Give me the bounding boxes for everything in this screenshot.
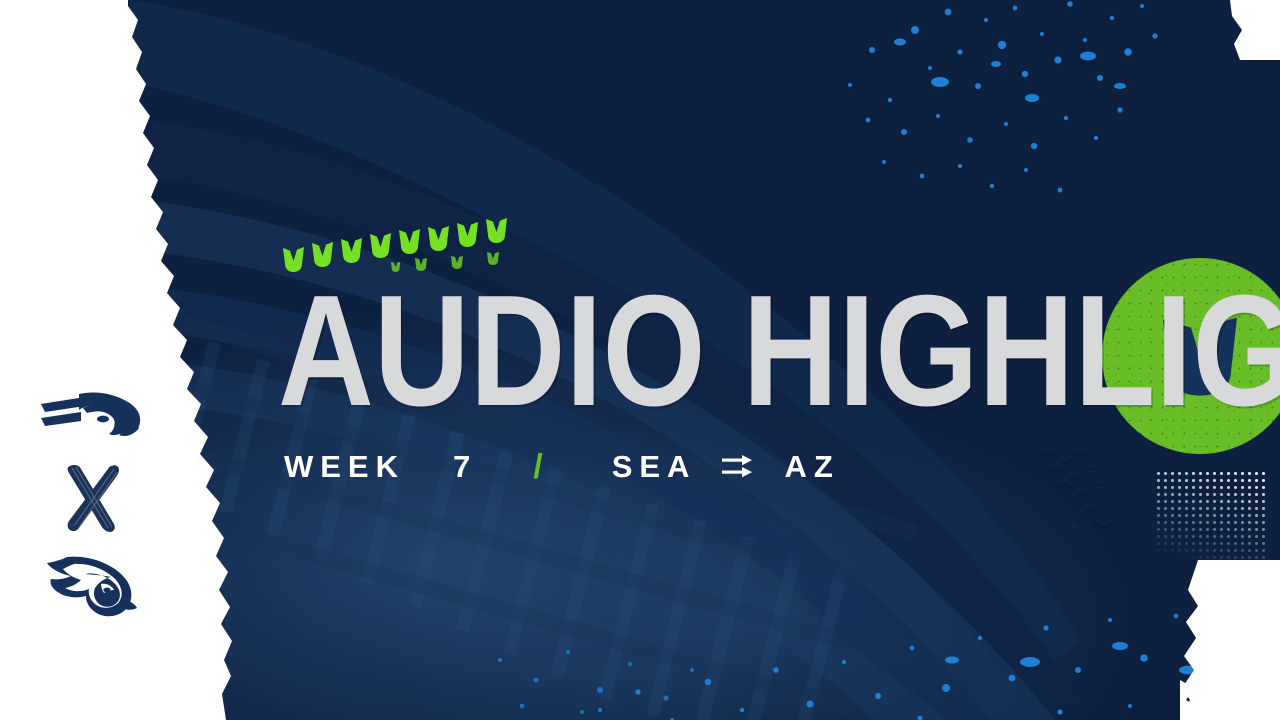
audio-highlights-graphic: AUDIO HIGHLIGHTS WEEK 7 / SEA AZ [0,0,1280,720]
versus-x-brushstroke-icon [58,462,124,534]
week-label: WEEK [284,449,405,485]
page-title: AUDIO HIGHLIGHTS [278,276,975,428]
seahawks-logo-icon [39,388,143,442]
week-number: 7 [453,449,477,485]
torn-edge-bottom-right [1180,560,1280,720]
away-team-abbr: AZ [784,449,839,485]
torn-edge-top-right [1214,0,1280,60]
cardinals-logo-icon [41,554,141,620]
matchup-subtitle: WEEK 7 / SEA AZ [284,448,1108,487]
matchup-arrow-icon [722,454,756,480]
seahawks-logo-slot[interactable] [39,388,143,442]
versus-x-slot [58,462,124,534]
home-team-abbr: SEA [612,449,697,485]
subtitle-separator: / [533,448,549,487]
paired-right-arrows-icon [722,454,756,480]
matchup-logo-rail [36,388,146,620]
cardinals-logo-slot[interactable] [41,554,141,620]
headline-block: AUDIO HIGHLIGHTS WEEK 7 / SEA AZ [278,276,1108,487]
